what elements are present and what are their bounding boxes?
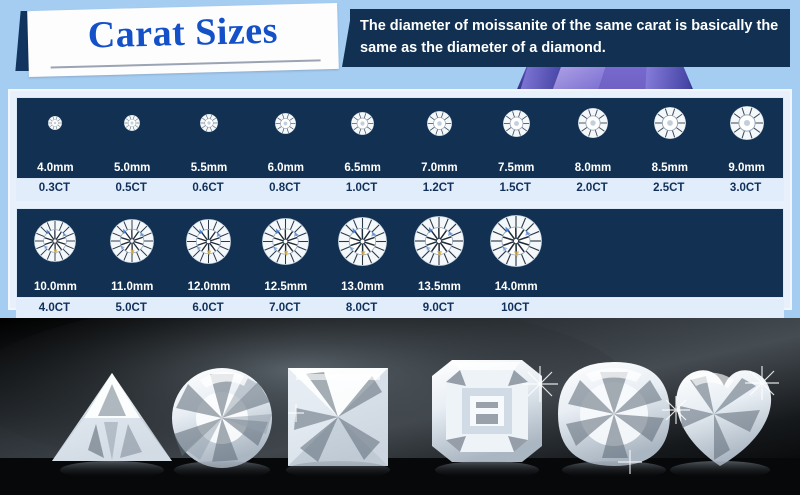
carat-label: 0.5CT xyxy=(93,182,170,194)
gem-cell: 11.0mm xyxy=(94,209,171,297)
carat-size-chart-page: Carat Sizes The diameter of moissanite o… xyxy=(0,0,800,495)
gem-cell: 12.0mm xyxy=(171,209,248,297)
carat-label: 2.0CT xyxy=(554,182,631,194)
diameter-label: 11.0mm xyxy=(94,281,171,293)
diamond-icon xyxy=(17,215,94,267)
diameter-label: 13.0mm xyxy=(324,281,401,293)
diamond-shapes-photo xyxy=(0,318,800,495)
diamond-icon xyxy=(631,106,708,140)
diamond-icon xyxy=(478,106,555,140)
gem-cell: 4.0mm xyxy=(17,98,94,178)
diameter-label: 12.5mm xyxy=(247,281,324,293)
gem-cell: 8.0mm xyxy=(555,98,632,178)
gem-cell: 7.5mm xyxy=(478,98,555,178)
diamond-icon xyxy=(247,106,324,140)
diameter-label: 14.0mm xyxy=(478,281,555,293)
gem-cell: 13.0mm xyxy=(324,209,401,297)
carat-label: 3.0CT xyxy=(707,182,784,194)
gem-cell: 9.0mm xyxy=(708,98,785,178)
carat-label: 0.6CT xyxy=(170,182,247,194)
gem-cell: 6.5mm xyxy=(324,98,401,178)
carat-label: 0.8CT xyxy=(246,182,323,194)
diameter-label: 6.0mm xyxy=(247,162,324,174)
diameter-label: 4.0mm xyxy=(17,162,94,174)
size-row-1-carats: 0.3CT0.5CT0.6CT0.8CT1.0CT1.2CT1.5CT2.0CT… xyxy=(16,179,784,201)
carat-label: 9.0CT xyxy=(400,302,477,314)
diamond-icon xyxy=(94,215,171,267)
diamond-icon xyxy=(171,215,248,267)
diameter-label: 7.0mm xyxy=(401,162,478,174)
diamond-icon xyxy=(94,106,171,140)
carat-label: 0.3CT xyxy=(16,182,93,194)
gem-cell: 6.0mm xyxy=(247,98,324,178)
diameter-label: 13.5mm xyxy=(401,281,478,293)
diameter-label: 6.5mm xyxy=(324,162,401,174)
gem-cell: 14.0mm xyxy=(478,209,555,297)
carat-label: 8.0CT xyxy=(323,302,400,314)
diameter-label: 5.5mm xyxy=(171,162,248,174)
size-row-1-gems: 4.0mm5.0mm5.5mm6.0mm6.5mm7.0mm7.5mm8.0mm… xyxy=(16,97,784,179)
description-text: The diameter of moissanite of the same c… xyxy=(350,9,790,67)
diameter-label: 5.0mm xyxy=(94,162,171,174)
carat-label: 1.2CT xyxy=(400,182,477,194)
carat-label: 2.5CT xyxy=(630,182,707,194)
diameter-label: 12.0mm xyxy=(171,281,248,293)
diameter-label: 7.5mm xyxy=(478,162,555,174)
gem-cell: 8.5mm xyxy=(631,98,708,178)
diamond-icon xyxy=(17,106,94,140)
diamond-icon xyxy=(708,106,785,140)
diamond-icon xyxy=(324,215,401,267)
title-underline xyxy=(51,59,321,68)
diamond-icon xyxy=(478,215,555,267)
carat-label: 5.0CT xyxy=(93,302,170,314)
carat-size-table: 4.0mm5.0mm5.5mm6.0mm6.5mm7.0mm7.5mm8.0mm… xyxy=(8,89,792,310)
princess-cut-diamond xyxy=(286,368,390,479)
size-row-2-gems: 10.0mm11.0mm12.0mm12.5mm13.0mm13.5mm14.0… xyxy=(16,208,784,298)
diamond-icon xyxy=(401,215,478,267)
page-title: Carat Sizes xyxy=(27,7,338,59)
carat-label: 6.0CT xyxy=(170,302,247,314)
diamond-icon xyxy=(247,215,324,267)
carat-label: 4.0CT xyxy=(16,302,93,314)
page-header: Carat Sizes The diameter of moissanite o… xyxy=(0,0,800,86)
diamond-icon xyxy=(401,106,478,140)
diamond-icon xyxy=(324,106,401,140)
diameter-label: 8.5mm xyxy=(631,162,708,174)
diameter-label: 8.0mm xyxy=(555,162,632,174)
diamond-icon xyxy=(171,106,248,140)
diameter-label: 10.0mm xyxy=(17,281,94,293)
gem-cell: 13.5mm xyxy=(401,209,478,297)
gem-cell: 5.0mm xyxy=(94,98,171,178)
diameter-label: 9.0mm xyxy=(708,162,785,174)
title-banner: Carat Sizes xyxy=(27,3,339,77)
diamond-icon xyxy=(555,106,632,140)
carat-label: 1.5CT xyxy=(477,182,554,194)
gem-cell: 10.0mm xyxy=(17,209,94,297)
carat-label: 10CT xyxy=(477,302,554,314)
carat-label: 1.0CT xyxy=(323,182,400,194)
gem-cell: 12.5mm xyxy=(247,209,324,297)
gem-cell: 7.0mm xyxy=(401,98,478,178)
carat-label: 7.0CT xyxy=(246,302,323,314)
gem-cell: 5.5mm xyxy=(171,98,248,178)
